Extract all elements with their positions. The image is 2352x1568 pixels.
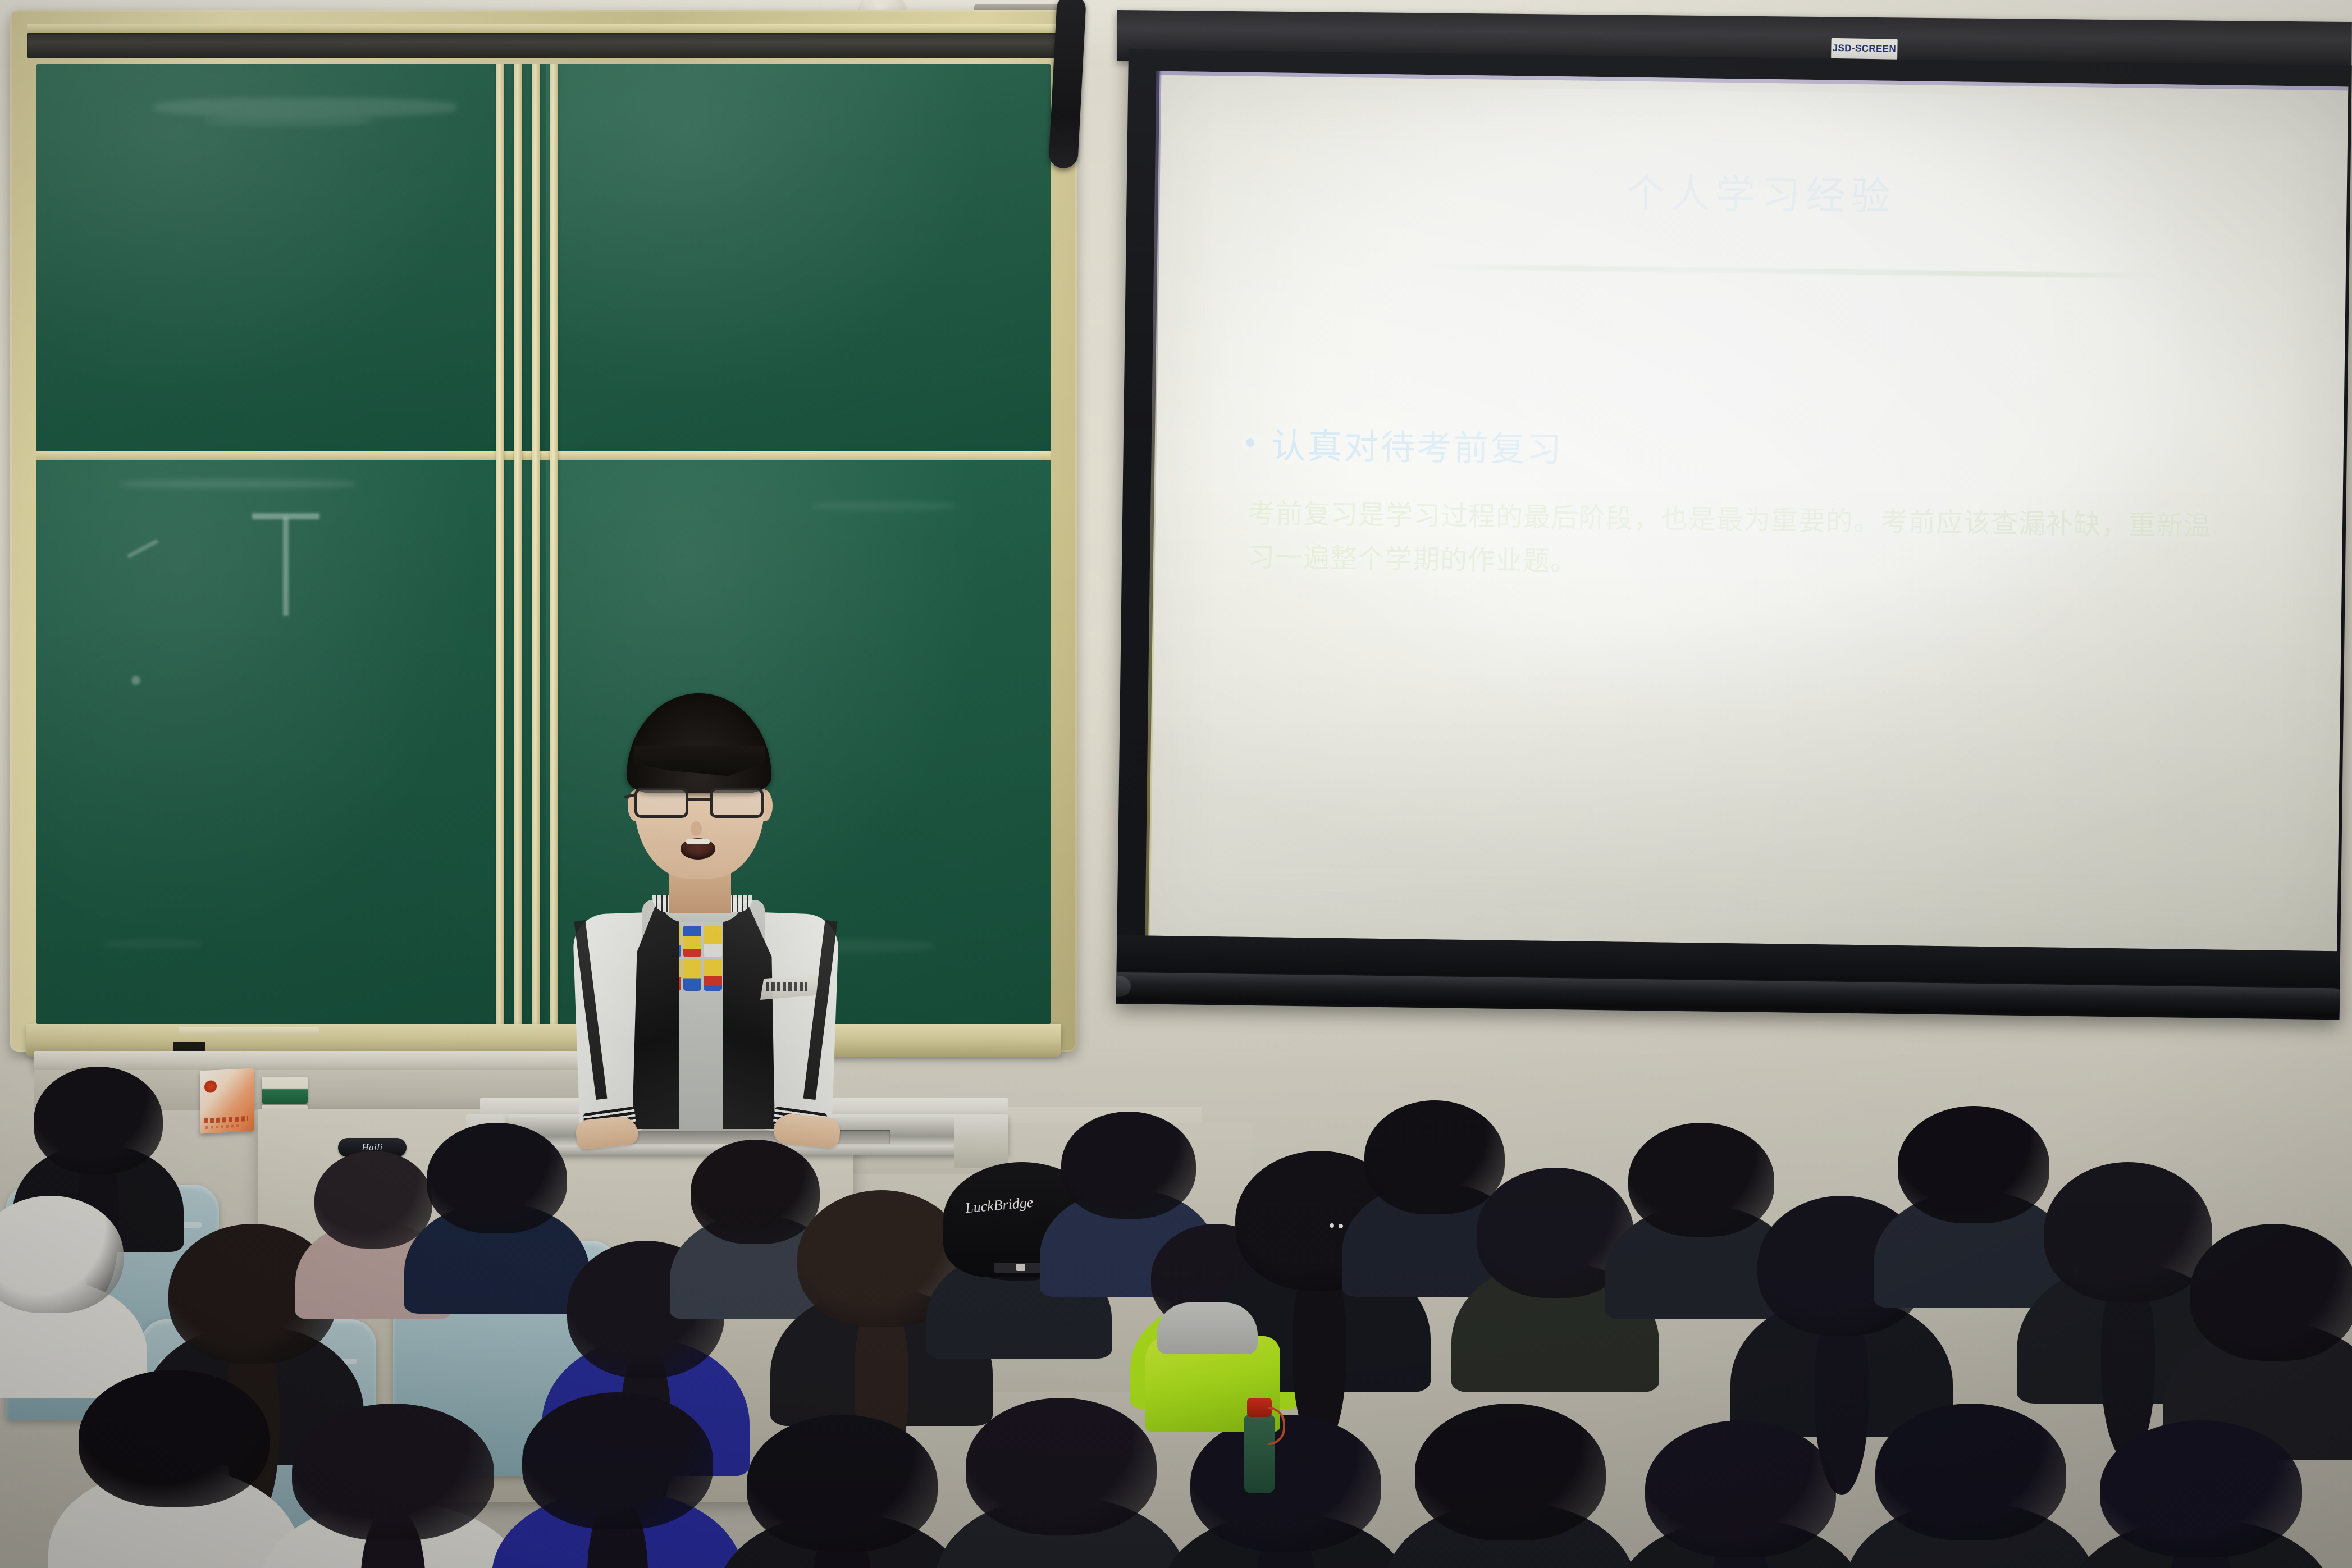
- head: [34, 1067, 163, 1174]
- head: [2044, 1162, 2212, 1302]
- student-front-row-d: [747, 1415, 938, 1568]
- blackboard-horizontal-divider: [36, 451, 1051, 460]
- slide-divider: [1427, 264, 2157, 278]
- student-front-row-i: [1875, 1404, 2066, 1568]
- head: [966, 1398, 1157, 1535]
- head: [0, 1196, 124, 1313]
- student-far-right-glasses: [1628, 1123, 1774, 1319]
- head: [79, 1370, 270, 1507]
- glasses-bridge: [688, 798, 711, 801]
- cap-logo-text: LuckBridge: [965, 1194, 1034, 1216]
- water-bottle: [1244, 1415, 1275, 1493]
- slide-bullet-heading: 认真对待考前复习: [1271, 417, 1563, 472]
- eyeglasses-icon: [633, 788, 768, 818]
- chalk-smudge: [811, 502, 957, 510]
- blackboard-panel: [546, 64, 1051, 451]
- glasses-lens-right: [710, 788, 764, 818]
- chalk-smudge: [154, 98, 457, 117]
- classroom-photo: JSD-SCREEN 个人学习经验 认真对待考前复习 考前复习是学习过程的最后阶…: [0, 0, 2352, 1568]
- head: [292, 1404, 494, 1540]
- student-front-row-a: [79, 1370, 270, 1568]
- slide-content: 个人学习经验 认真对待考前复习 考前复习是学习过程的最后阶段，也是最为重要的。考…: [1148, 71, 2348, 952]
- head: [2190, 1224, 2352, 1361]
- head: [427, 1123, 567, 1233]
- grey-hood: [1157, 1302, 1258, 1354]
- cartoon-figure: [704, 926, 722, 957]
- slide-bullet-row: 认真对待考前复习: [1245, 417, 2276, 481]
- student-front-row-e: [966, 1398, 1157, 1568]
- blackboard-panel-edge: [514, 64, 522, 1024]
- head: [1415, 1404, 1606, 1540]
- bullet-dot-icon: [1246, 438, 1254, 446]
- head: [1645, 1420, 1836, 1557]
- chalk-smudge: [204, 116, 373, 126]
- mouth-speaking: [681, 838, 715, 860]
- blackboard-slide-rail[interactable]: [27, 33, 1060, 58]
- chalk-smudge: [120, 479, 356, 488]
- head: [747, 1415, 938, 1552]
- chalk-smudge: [103, 940, 204, 948]
- projection-screen: 个人学习经验 认真对待考前复习 考前复习是学习过程的最后阶段，也是最为重要的。考…: [1116, 49, 2352, 1020]
- head: [1898, 1106, 2049, 1223]
- student-front-row-g: [1415, 1404, 1606, 1568]
- student-front-row-b: [292, 1404, 494, 1568]
- screen-brand-label: JSD-SCREEN: [1831, 38, 1898, 60]
- slide-body-text: 考前复习是学习过程的最后阶段，也是最为重要的。考前应该查漏补缺，重新温习一遍整个…: [1248, 492, 2226, 592]
- head: [522, 1392, 713, 1529]
- head: [1190, 1415, 1381, 1552]
- hair: [627, 693, 771, 793]
- head: [1628, 1123, 1774, 1237]
- hair-clip-icon: [1330, 1223, 1334, 1228]
- head: [2100, 1420, 2302, 1557]
- glasses-lens-left: [634, 788, 688, 818]
- chalk-mark: [131, 676, 140, 685]
- cartoon-figure: [704, 959, 722, 991]
- student-front-row-j: [2100, 1420, 2302, 1568]
- chalk-tray-lip: [179, 1027, 319, 1035]
- slide-title: 个人学习经验: [1242, 157, 2280, 227]
- head: [1875, 1404, 2066, 1540]
- screen-brand-text: JSD-SCREEN: [1832, 43, 1896, 55]
- blackboard-panel-edge: [496, 64, 504, 1024]
- audience: LuckBridge: [0, 1055, 2352, 1568]
- nose: [691, 821, 702, 836]
- blackboard-panel: [36, 460, 546, 1024]
- student-rightmost-spiky: [1898, 1106, 2049, 1308]
- blackboard-top-trim: [27, 24, 1060, 33]
- cartoon-figure: [683, 926, 702, 957]
- student-front-row-c: [522, 1392, 713, 1568]
- head: [1061, 1112, 1196, 1219]
- student-front-left-edge: [0, 1196, 124, 1398]
- head: [314, 1151, 432, 1249]
- student-front-row-f: [1190, 1415, 1381, 1568]
- student-front-row-h: [1645, 1420, 1836, 1568]
- student-navy-center: [427, 1123, 567, 1314]
- cartoon-figure: [683, 959, 702, 991]
